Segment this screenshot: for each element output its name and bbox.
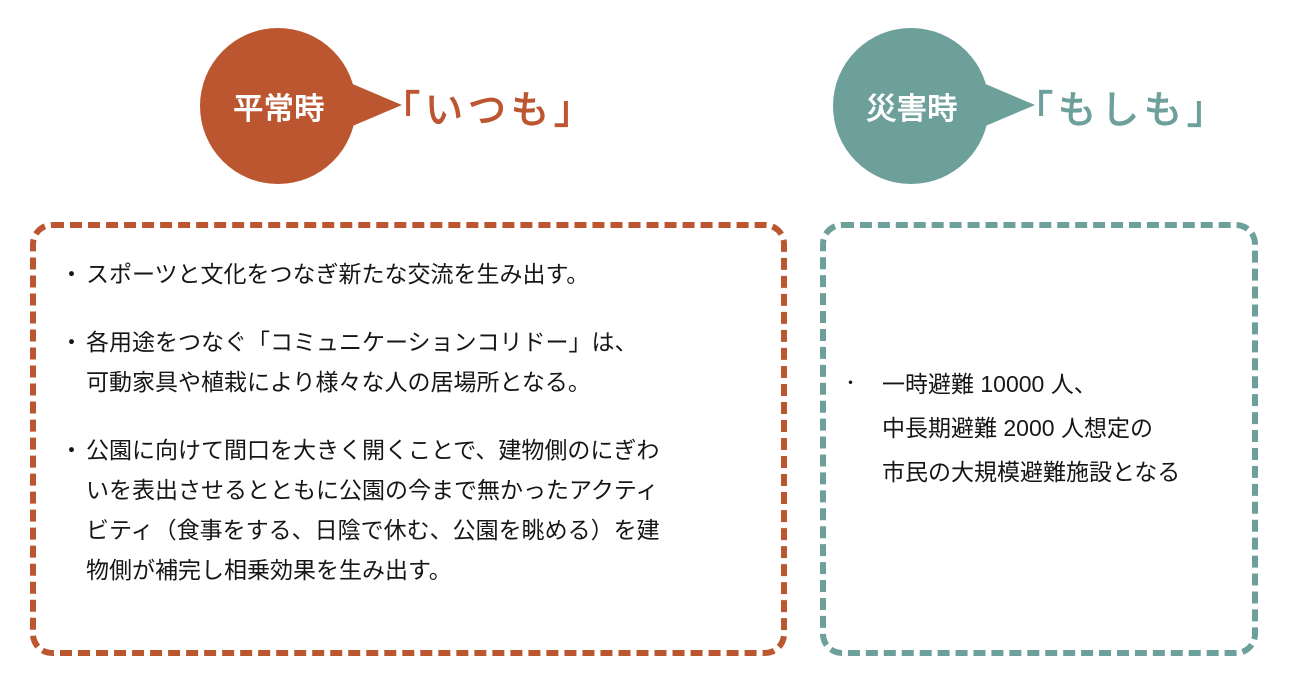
bullet-text: 各用途をつなぐ「コミュニケーションコリドー」は、 可動家具や植栽により様々な人の… [86, 322, 757, 402]
bullet-line: いを表出させるとともに公園の今まで無かったアクティ [86, 470, 757, 510]
bullet-text: 一時避難 10000 人、 中長期避難 2000 人想定の 市民の大規模避難施設… [882, 362, 1228, 494]
bullet-marker-icon: ・ [60, 322, 86, 362]
bullet-line: 物側が補完し相乗効果を生み出す。 [86, 550, 757, 590]
bullet-marker-icon: ・ [842, 362, 882, 406]
heading-disaster: 「もしも」 [1015, 79, 1230, 134]
bullet-line: 中長期避難 2000 人想定の [882, 406, 1228, 450]
panel-normal-body: ・ スポーツと文化をつなぎ新たな交流を生み出す。 ・ 各用途をつなぐ「コミュニケ… [36, 228, 781, 590]
bullet-line: スポーツと文化をつなぎ新たな交流を生み出す。 [86, 254, 757, 294]
bubble-label-disaster: 災害時 [833, 28, 989, 184]
panel-disaster-body: ・ 一時避難 10000 人、 中長期避難 2000 人想定の 市民の大規模避難… [826, 228, 1252, 494]
bubble-group-disaster: 災害時 「もしも」 [833, 28, 1230, 184]
panel-disaster: ・ 一時避難 10000 人、 中長期避難 2000 人想定の 市民の大規模避難… [820, 222, 1258, 656]
speech-bubble-disaster: 災害時 [833, 28, 989, 184]
list-item: ・ 一時避難 10000 人、 中長期避難 2000 人想定の 市民の大規模避難… [842, 362, 1228, 494]
bullet-line: 公園に向けて間口を大きく開くことで、建物側のにぎわ [86, 430, 757, 470]
diagram-canvas: 平常時 「いつも」 ・ スポーツと文化をつなぎ新たな交流を生み出す。 ・ 各用途… [0, 0, 1289, 696]
bullet-line: ビティ（食事をする、日陰で休む、公園を眺める）を建 [86, 510, 757, 550]
bullet-list-disaster: ・ 一時避難 10000 人、 中長期避難 2000 人想定の 市民の大規模避難… [842, 362, 1228, 494]
bullet-text: スポーツと文化をつなぎ新たな交流を生み出す。 [86, 254, 757, 294]
heading-normal: 「いつも」 [382, 79, 597, 134]
list-item: ・ 各用途をつなぐ「コミュニケーションコリドー」は、 可動家具や植栽により様々な… [60, 322, 757, 402]
bullet-text: 公園に向けて間口を大きく開くことで、建物側のにぎわ いを表出させるとともに公園の… [86, 430, 757, 590]
speech-bubble-normal: 平常時 [200, 28, 356, 184]
bullet-marker-icon: ・ [60, 254, 86, 294]
list-item: ・ スポーツと文化をつなぎ新たな交流を生み出す。 [60, 254, 757, 294]
bullet-marker-icon: ・ [60, 430, 86, 470]
bullet-line: 可動家具や植栽により様々な人の居場所となる。 [86, 362, 757, 402]
bullet-line: 一時避難 10000 人、 [882, 362, 1228, 406]
bullet-line: 市民の大規模避難施設となる [882, 450, 1228, 494]
panel-normal: ・ スポーツと文化をつなぎ新たな交流を生み出す。 ・ 各用途をつなぐ「コミュニケ… [30, 222, 787, 656]
list-item: ・ 公園に向けて間口を大きく開くことで、建物側のにぎわ いを表出させるとともに公… [60, 430, 757, 590]
bubble-label-normal: 平常時 [200, 28, 356, 184]
bullet-line: 各用途をつなぐ「コミュニケーションコリドー」は、 [86, 322, 757, 362]
bullet-list-normal: ・ スポーツと文化をつなぎ新たな交流を生み出す。 ・ 各用途をつなぐ「コミュニケ… [60, 254, 757, 590]
bubble-group-normal: 平常時 「いつも」 [200, 28, 597, 184]
